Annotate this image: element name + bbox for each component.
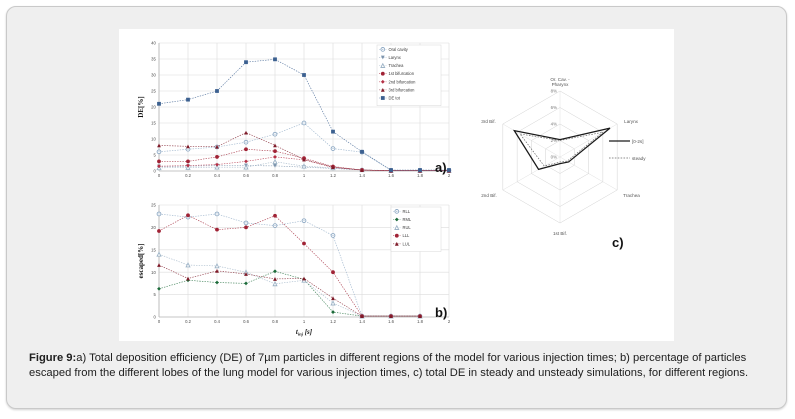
radar-tick-label: 8%	[551, 89, 557, 94]
data-point-marker	[186, 98, 190, 102]
data-point-marker	[244, 131, 248, 135]
y-tick-label: 25	[151, 89, 156, 94]
legend-label: 3rd bifurcation	[389, 87, 416, 92]
radar-legend-item[interactable]: [0-2s]	[609, 139, 644, 144]
legend-label: RUL	[403, 225, 412, 230]
x-axis-title: tinj [s]	[296, 328, 313, 336]
y-axis-title: DE[%]	[137, 96, 145, 117]
radar-category-label: Larynx	[624, 119, 638, 124]
charts-ab-svg: 00.20.40.60.811.21.41.61.820510152025303…	[119, 29, 478, 341]
data-point-marker	[273, 277, 277, 281]
data-point-marker	[215, 155, 219, 159]
radar-legend-item[interactable]: steady	[609, 156, 646, 161]
data-point-marker	[447, 168, 451, 172]
radar-legend: [0-2s]steady	[609, 139, 646, 161]
legend-label: Larynx	[389, 55, 401, 60]
data-point-marker	[331, 310, 335, 314]
data-point-marker	[331, 130, 335, 134]
y-tick-label: 10	[151, 137, 156, 142]
x-tick-label: 1.6	[388, 173, 394, 178]
data-point-marker	[381, 72, 385, 76]
radar-category-label: 1st Bif.	[553, 231, 567, 236]
y-tick-label: 25	[151, 203, 156, 208]
panel-letter-c: c)	[612, 235, 624, 250]
panel-letter-b: b)	[435, 305, 447, 320]
data-point-marker	[244, 282, 248, 286]
legend-label: LUL	[403, 241, 411, 246]
data-point-marker	[273, 282, 277, 286]
data-point-marker	[244, 165, 248, 169]
data-point-marker	[157, 229, 161, 233]
legend-item[interactable]: DE tot	[379, 96, 401, 101]
data-point-marker	[381, 96, 385, 100]
y-tick-label: 40	[151, 41, 156, 46]
data-point-marker	[244, 160, 248, 164]
data-point-marker	[157, 102, 161, 106]
legend-label: RLL	[403, 209, 411, 214]
radar-legend-label: [0-2s]	[632, 139, 644, 144]
legend-label: Trachea	[389, 63, 405, 68]
x-tick-label: 0	[158, 319, 161, 324]
series-lll	[157, 213, 422, 318]
data-point-marker	[395, 234, 399, 238]
x-tick-label: 1.8	[417, 319, 423, 324]
legend-panel-b: RLLRMLRULLLLLUL	[391, 207, 441, 252]
y-tick-label: 15	[151, 121, 156, 126]
x-tick-label: 0.6	[243, 319, 249, 324]
radar-root: 0%2%4%6%8%Or. Cav. -PharynxLarynxTrachea…	[481, 77, 640, 236]
radar-tick-label: 6%	[551, 105, 557, 110]
x-tick-label: 0	[158, 173, 161, 178]
data-point-marker	[273, 160, 277, 164]
radar-legend-label: steady	[632, 156, 646, 161]
radar-tick-label: 4%	[551, 122, 557, 127]
y-tick-label: 0	[153, 315, 156, 320]
radar-series--0-2s-	[514, 128, 610, 169]
x-tick-label: 1.6	[388, 319, 394, 324]
series-line	[159, 254, 420, 316]
radar-category-label: 3rd Bif.	[481, 119, 496, 124]
data-point-marker	[186, 164, 190, 168]
data-point-marker	[273, 269, 277, 273]
data-point-marker	[215, 163, 219, 167]
x-tick-label: 2	[448, 173, 451, 178]
y-tick-label: 35	[151, 57, 156, 62]
figure-panel: 00.20.40.60.811.21.41.61.820510152025303…	[6, 6, 787, 409]
radar-category-label: 2nd Bif.	[481, 193, 497, 198]
data-point-marker	[215, 228, 219, 232]
data-point-marker	[273, 144, 277, 148]
y-axis-title: escaped[%]	[137, 244, 145, 279]
panel-letter-a: a)	[435, 160, 447, 175]
data-point-marker	[302, 73, 306, 77]
data-point-marker	[389, 168, 393, 172]
data-point-marker	[186, 160, 190, 164]
legend-label: 1st bifurcation	[389, 71, 415, 76]
legend-label: LLL	[403, 233, 411, 238]
data-point-marker	[157, 252, 161, 256]
legend-item[interactable]: Oral cavity	[379, 47, 409, 52]
legend-panel-a: Oral cavityLarynxTrachea1st bifurcation2…	[377, 45, 441, 106]
x-tick-label: 1	[303, 173, 306, 178]
y-tick-label: 5	[153, 153, 156, 158]
series-line	[159, 215, 420, 316]
x-tick-label: 1.4	[359, 319, 365, 324]
data-point-marker	[244, 226, 248, 230]
y-tick-label: 10	[151, 270, 156, 275]
x-tick-label: 2	[448, 319, 451, 324]
x-tick-label: 1.4	[359, 173, 365, 178]
data-point-marker	[418, 168, 422, 172]
data-point-marker	[215, 264, 219, 268]
data-point-marker	[186, 263, 190, 267]
legend-item[interactable]: RLL	[393, 209, 411, 214]
data-point-marker	[186, 213, 190, 217]
data-point-marker	[244, 147, 248, 151]
figure-page: 00.20.40.60.811.21.41.61.820510152025303…	[0, 0, 795, 419]
y-tick-label: 15	[151, 247, 156, 252]
x-tick-label: 1.8	[417, 173, 423, 178]
data-point-marker	[360, 150, 364, 154]
legend-label: RML	[403, 217, 412, 222]
series-line	[159, 271, 420, 316]
radar-tick-label: 0%	[551, 155, 557, 160]
series-line	[159, 214, 420, 316]
radar-series-steady	[520, 132, 603, 166]
x-tick-label: 1.2	[330, 319, 336, 324]
x-tick-label: 0.2	[185, 173, 191, 178]
data-point-marker	[331, 270, 335, 274]
x-tick-label: 0.8	[272, 319, 278, 324]
legend-label: 2nd bifurcation	[389, 79, 417, 84]
data-point-marker	[157, 160, 161, 164]
data-point-marker	[244, 60, 248, 64]
x-tick-label: 0.8	[272, 173, 278, 178]
x-tick-label: 1	[303, 319, 306, 324]
data-point-marker	[215, 281, 219, 285]
data-point-marker	[273, 57, 277, 61]
data-point-marker	[273, 149, 277, 153]
data-point-marker	[273, 155, 277, 159]
series-line	[159, 265, 420, 316]
x-tick-label: 0.4	[214, 319, 220, 324]
legend-label: DE tot	[389, 96, 401, 101]
radar-chart-svg: 0%2%4%6%8%Or. Cav. -PharynxLarynxTrachea…	[478, 29, 674, 341]
series-rml	[157, 269, 422, 318]
legend-label: Oral cavity	[389, 47, 409, 52]
data-point-marker	[273, 214, 277, 218]
x-tick-label: 0.6	[243, 173, 249, 178]
radar-category-label: Trachea	[623, 193, 640, 198]
chart-c-area: 0%2%4%6%8%Or. Cav. -PharynxLarynxTrachea…	[478, 29, 674, 341]
legend-item[interactable]: Trachea	[379, 63, 404, 68]
charts-ab-area: 00.20.40.60.811.21.41.61.820510152025303…	[119, 29, 478, 341]
y-tick-label: 5	[153, 292, 156, 297]
series-lul	[157, 263, 422, 318]
x-tick-label: 0.2	[185, 319, 191, 324]
data-point-marker	[186, 277, 190, 281]
data-point-marker	[302, 164, 306, 168]
y-tick-label: 0	[153, 169, 156, 174]
figure-caption: Figure 9:a) Total deposition efficiency …	[29, 351, 781, 380]
data-point-marker	[186, 144, 190, 148]
y-tick-label: 30	[151, 73, 156, 78]
data-point-marker	[157, 263, 161, 267]
y-tick-label: 20	[151, 105, 156, 110]
x-tick-label: 1.2	[330, 173, 336, 178]
caption-label: Figure 9:	[29, 352, 76, 364]
y-tick-label: 20	[151, 225, 156, 230]
caption-text: a) Total deposition efficiency (DE) of 7…	[29, 352, 748, 379]
series-rul	[157, 252, 422, 318]
data-point-marker	[302, 242, 306, 246]
radar-category-label: Or. Cav. -Pharynx	[550, 77, 570, 87]
data-point-marker	[331, 296, 335, 300]
data-point-marker	[157, 287, 161, 291]
x-tick-label: 0.4	[214, 173, 220, 178]
data-point-marker	[215, 89, 219, 93]
